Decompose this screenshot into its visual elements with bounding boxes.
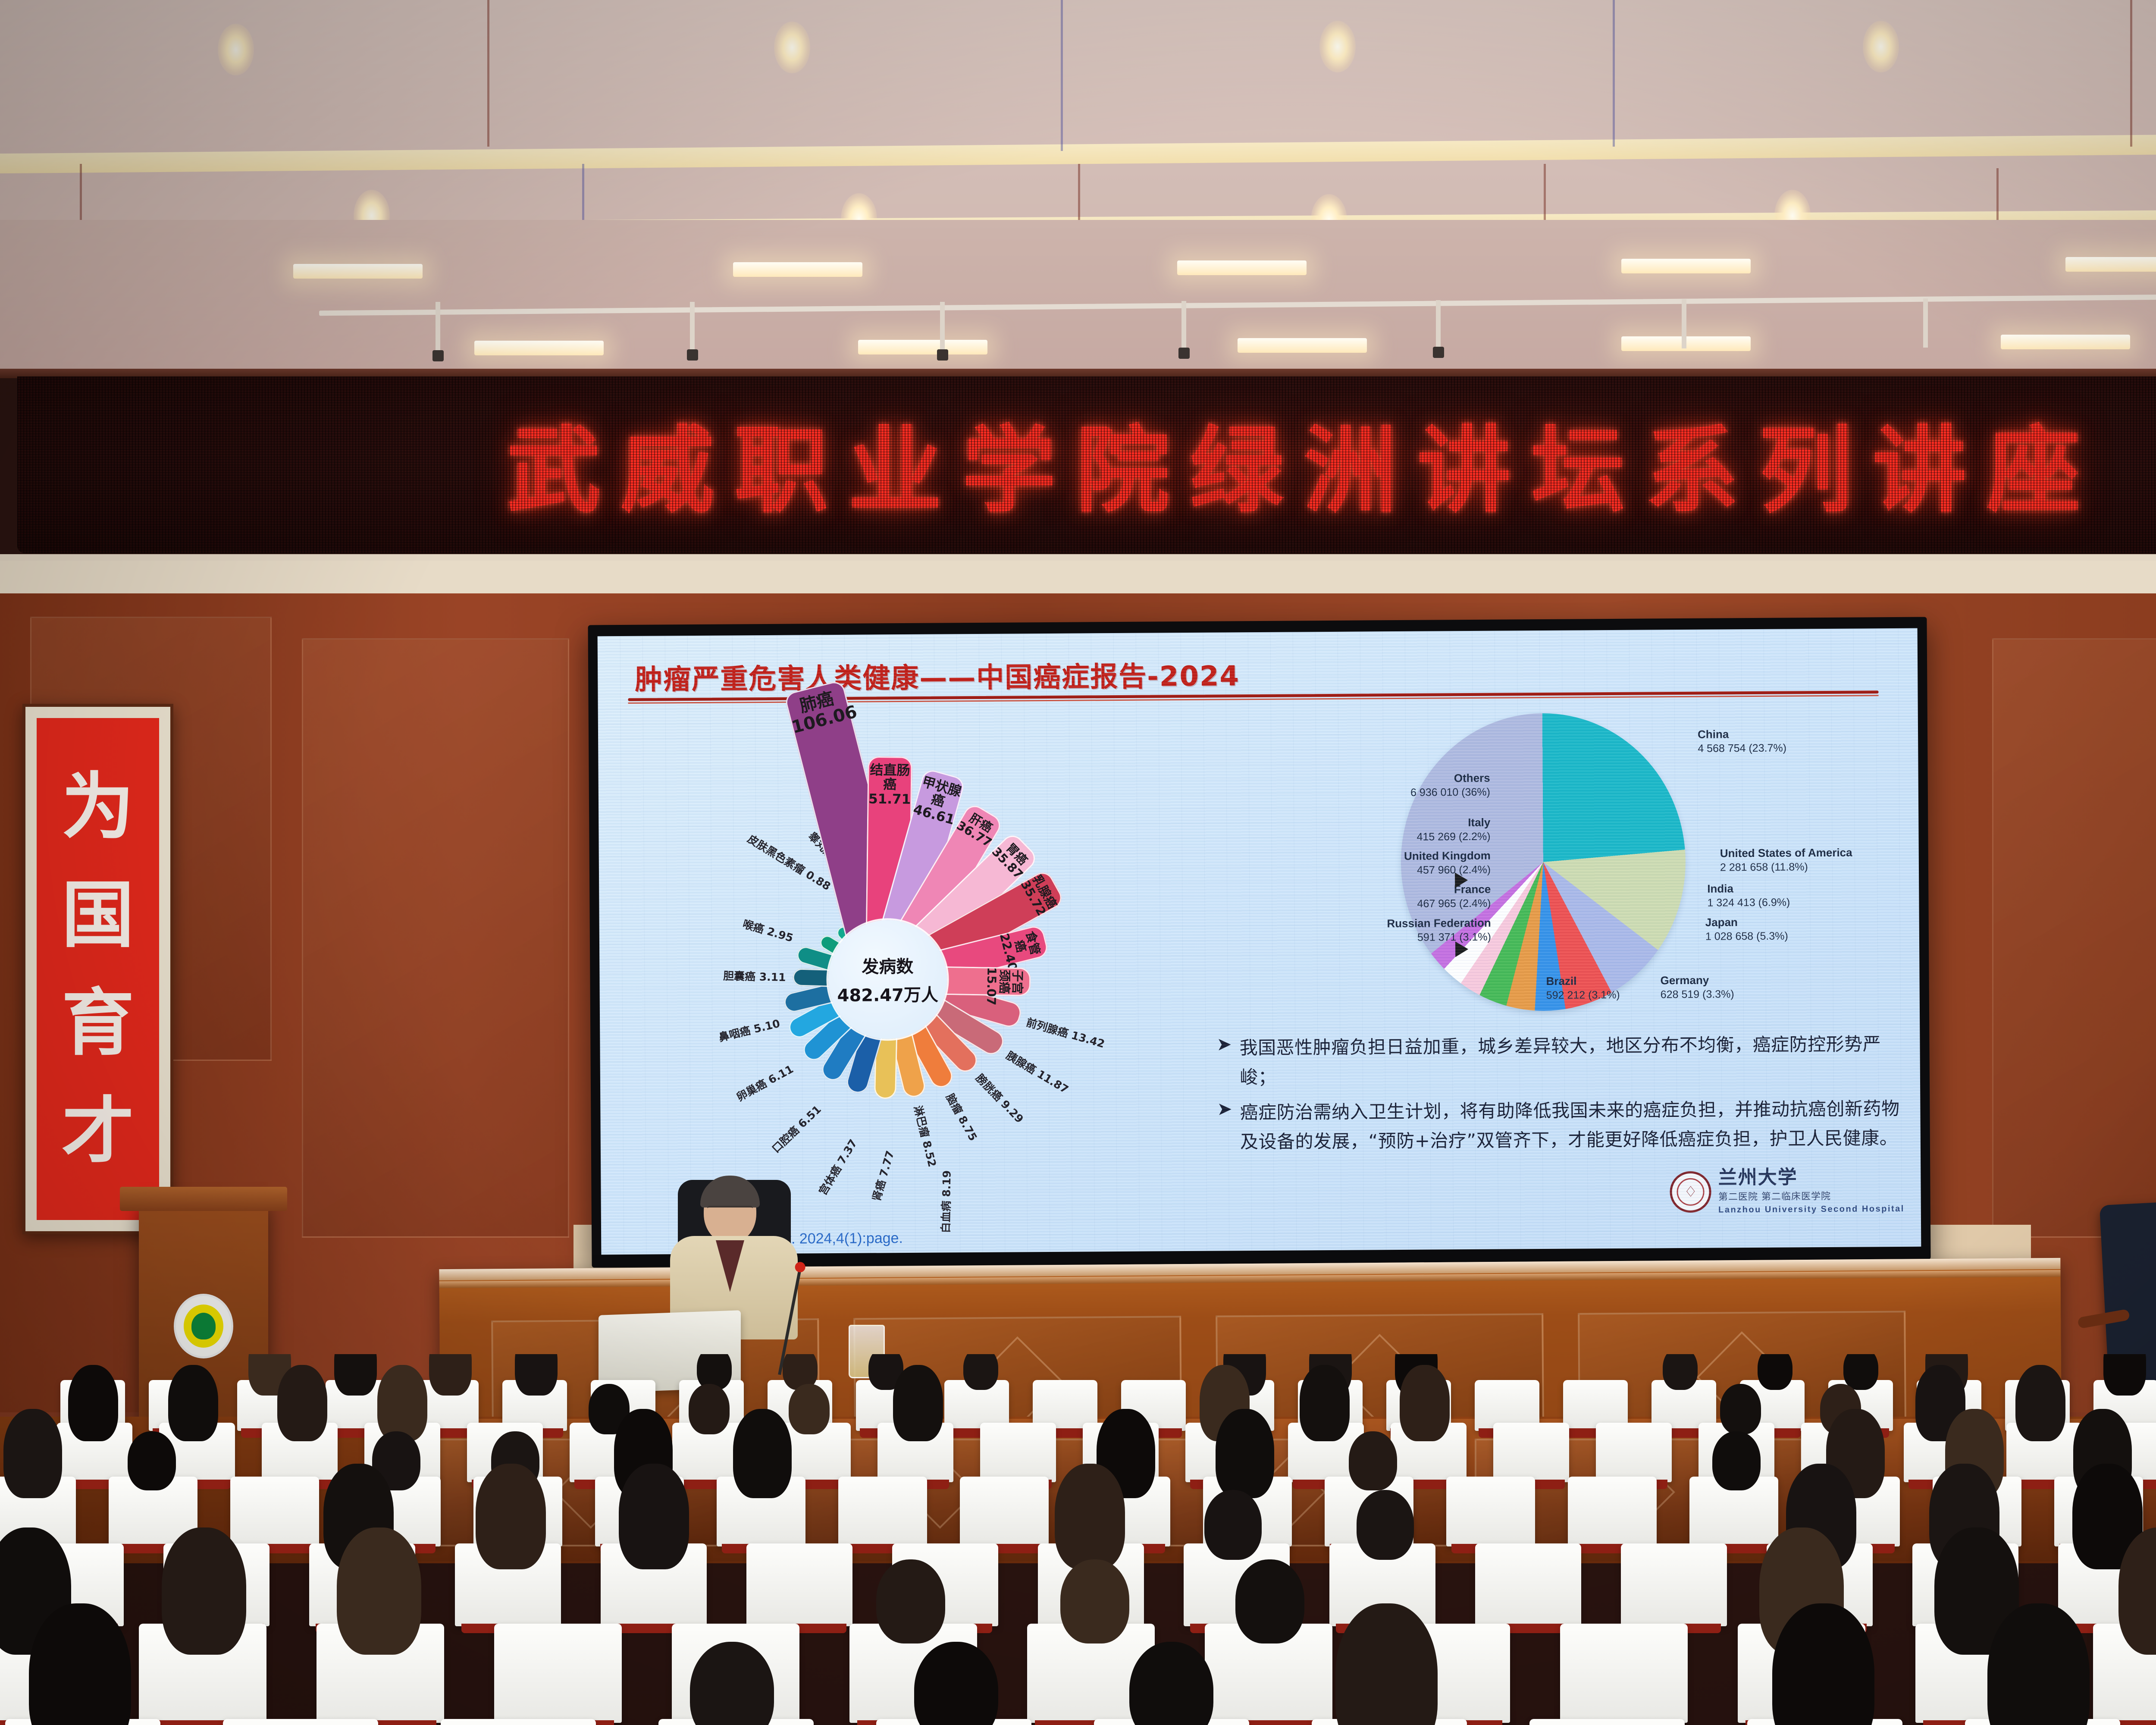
mouse-cursor-icon <box>1455 872 1468 888</box>
stage-spotlight <box>687 349 698 361</box>
rose-center-label: 发病数 482.47万人 <box>828 919 948 1039</box>
ceiling-rib <box>2130 0 2132 147</box>
hospital-logo: ♢ 兰州大学 第二医院 第二临床医学院 Lanzhou University S… <box>1670 1167 1905 1215</box>
slide: 肿瘤严重危害人类健康——中国癌症报告-2024 发病数 482.47万人 肺癌1… <box>598 628 1921 1255</box>
cove-slot-light <box>474 341 604 355</box>
audience-person-head <box>1300 1365 1350 1441</box>
audience-person-head <box>429 1354 472 1396</box>
rose-petal-label: 肺癌106.06 <box>785 686 853 737</box>
audience-person-head <box>789 1384 830 1434</box>
mouse-cursor-icon-2 <box>1455 941 1468 957</box>
rose-outer-label: 口腔癌 6.51 <box>768 1101 824 1156</box>
audience-seat <box>1621 1543 1727 1626</box>
audience-person-head <box>1772 1603 1875 1725</box>
slide-bullet-list: ➤ 我国恶性肿瘤负担日益加重，城乡差异较大，地区分布不均衡，癌症防控形势严峻； … <box>1216 1029 1912 1163</box>
audience-person-head <box>733 1409 792 1499</box>
audience-person-head <box>1400 1365 1450 1441</box>
rose-outer-label: 肾癌 7.77 <box>868 1149 897 1203</box>
pie-slice-name: Russian Federation <box>1229 916 1491 931</box>
hospital-name-cn: 兰州大学 <box>1718 1167 1905 1188</box>
pie-slice-value: 591 371 (3.1%) <box>1229 931 1491 945</box>
rose-outer-label: 卵巢癌 6.11 <box>733 1061 796 1104</box>
audience-person-head <box>1060 1559 1129 1643</box>
rose-center-title: 发病数 <box>862 953 913 978</box>
audience-person-head <box>168 1365 218 1441</box>
ceiling-downlight <box>1319 21 1356 72</box>
rose-outer-label: 前列腺癌 13.42 <box>1025 1014 1106 1051</box>
audience-seat <box>230 1477 319 1546</box>
left-banner-char-2: 国 <box>62 879 134 951</box>
audience-seat <box>838 1477 927 1546</box>
rose-outer-label: 淋巴瘤 8.52 <box>911 1104 941 1168</box>
ceiling-downlight <box>218 24 254 75</box>
audience-person-head <box>1758 1354 1792 1390</box>
audience-seat <box>746 1543 852 1626</box>
rose-petal-label: 乳腺癌35.72 <box>1018 872 1059 918</box>
left-banner-char-1: 为 <box>62 771 134 843</box>
audience-person-head <box>963 1354 998 1390</box>
pie-slice-name: Japan <box>1705 916 1788 929</box>
audience-person-head <box>1712 1431 1760 1490</box>
audience-person-head <box>1357 1490 1414 1560</box>
audience-seat <box>441 1719 596 1725</box>
rose-outer-label: 胆囊癌 3.11 <box>723 968 786 985</box>
ceiling-rib <box>1061 0 1063 151</box>
bullet-arrow-icon: ➤ <box>1217 1100 1232 1158</box>
audience-person-head <box>876 1559 945 1643</box>
speaker-glasses-icon <box>707 1206 753 1215</box>
audience-person-head <box>1204 1490 1262 1560</box>
pie-slice-name: United States of America <box>1720 846 1852 860</box>
pie-slice-label: Germany628 519 (3.3%) <box>1660 973 1734 1001</box>
pie-slice-name: United Kingdom <box>1228 849 1491 864</box>
truss-drop <box>1436 300 1441 350</box>
audience-seat <box>960 1477 1049 1546</box>
left-banner-char-3: 育 <box>62 987 134 1059</box>
auditorium-photo: 武威职业学院绿洲讲坛系列讲座 为 国 育 才 为 党 育 人 肿瘤严重危害人类 <box>0 0 2156 1725</box>
pie-slice-name: Germany <box>1660 973 1734 987</box>
pie-slice-label: United States of America2 281 658 (11.8%… <box>1720 846 1852 874</box>
hospital-seal-icon: ♢ <box>1670 1171 1712 1213</box>
truss-drop <box>940 302 945 353</box>
stage-spotlight <box>1433 347 1444 358</box>
rose-center-value: 482.47万人 <box>837 981 938 1007</box>
pie-slice-name: China <box>1698 728 1786 741</box>
lectern-top <box>120 1187 287 1211</box>
wall-cream-band <box>0 561 2156 593</box>
ceiling-downlight <box>1863 21 1899 72</box>
audience-person-head <box>3 1409 62 1499</box>
audience-person-head <box>1720 1384 1761 1434</box>
audience-seat <box>1529 1719 1685 1725</box>
audience-person-head <box>2015 1365 2065 1441</box>
cove-slot-light <box>1238 338 1367 353</box>
rose-outer-label: 鼻咽癌 5.10 <box>717 1015 782 1044</box>
bullet-arrow-icon: ➤ <box>1216 1035 1232 1094</box>
audience-person-head <box>162 1527 246 1655</box>
cove-slot-light <box>2001 335 2130 349</box>
pie-slice-value: 4 568 754 (23.7%) <box>1698 742 1786 755</box>
cove-slot-light <box>733 262 862 277</box>
ceiling-rib <box>487 0 489 147</box>
audience-person-head <box>515 1354 558 1396</box>
slide-title: 肿瘤严重危害人类健康——中国癌症报告-2024 <box>635 654 1240 697</box>
hospital-sub-cn: 第二医院 第二临床医学院 <box>1718 1188 1905 1203</box>
cove-slot-light <box>1621 259 1751 273</box>
pie-slice-value: 6 936 010 (36%) <box>1228 786 1490 800</box>
rose-petal-label: 子宫颈癌15.07 <box>984 967 1024 996</box>
left-banner-inner: 为 国 育 才 <box>37 718 159 1220</box>
pie-slice-value: 1 324 413 (6.9%) <box>1707 896 1790 909</box>
audience-person-head <box>1349 1431 1397 1490</box>
audience-person-head <box>914 1642 998 1725</box>
pie-slice-value: 415 269 (2.2%) <box>1228 831 1490 845</box>
audience-person-head <box>1335 1603 1438 1725</box>
audience-person-head <box>334 1354 377 1396</box>
rose-petal-label: 甲状腺癌46.61 <box>912 775 965 828</box>
audience-person-head <box>277 1365 327 1441</box>
audience-person-head <box>1235 1559 1304 1643</box>
cove-slot-light <box>858 340 987 354</box>
bullet-item: ➤ 癌症防治需纳入卫生计划，将有助降低我国未来的癌症负担，并推动抗癌创新药物及设… <box>1217 1094 1912 1157</box>
audience-person-head <box>1663 1354 1698 1390</box>
left-banner-scroll: 为 国 育 才 <box>22 704 173 1234</box>
cove-slot-light <box>2065 257 2156 272</box>
pie-slice-label: Russian Federation591 371 (3.1%) <box>1229 916 1491 945</box>
ceiling-cove-wall <box>0 220 2156 371</box>
stage-spotlight <box>432 350 444 361</box>
pie-slice-label: Others6 936 010 (36%) <box>1228 772 1490 800</box>
audience-person-head <box>1216 1409 1274 1499</box>
audience-seat <box>1596 1423 1672 1482</box>
rose-outer-label: 白血病 8.19 <box>937 1170 954 1233</box>
audience-seat <box>980 1423 1056 1482</box>
audience-person-head <box>128 1431 175 1490</box>
left-banner-char-4: 才 <box>62 1095 134 1167</box>
emblem-leaf-icon <box>191 1313 216 1339</box>
rose-petal-label: 肝癌36.77 <box>954 808 1001 850</box>
truss-drop <box>1923 298 1928 348</box>
pie-slice-value: 2 281 658 (11.8%) <box>1720 861 1852 874</box>
audience-person-head <box>29 1603 132 1725</box>
led-banner: 武威职业学院绿洲讲坛系列讲座 <box>0 369 2156 558</box>
bullet-text: 癌症防治需纳入卫生计划，将有助降低我国未来的癌症负担，并推动抗癌创新药物及设备的… <box>1240 1094 1912 1157</box>
global-cancer-pie-chart: China4 568 754 (23.7%)United States of A… <box>1228 709 1902 1015</box>
truss-drop <box>1682 299 1686 348</box>
pie-slice-value: 457 960 (2.4%) <box>1228 864 1491 878</box>
pie-slice-value: 1 028 658 (5.3%) <box>1705 930 1788 943</box>
stage-spotlight <box>937 349 948 361</box>
rose-outer-label: 膀胱癌 9.29 <box>973 1070 1028 1126</box>
audience-seat <box>1475 1543 1581 1626</box>
pie-slice-label: France467 965 (2.4%) <box>1228 883 1491 912</box>
pie-slice-label: Brazil592 212 (3.1%) <box>1546 974 1620 1002</box>
pie-slice-label: Japan1 028 658 (5.3%) <box>1705 916 1788 943</box>
audience-seat <box>1493 1423 1569 1482</box>
pie-slice-label: India1 324 413 (6.9%) <box>1707 881 1790 909</box>
truss-drop <box>436 302 440 354</box>
pie-slice-value: 467 965 (2.4%) <box>1228 897 1491 912</box>
pie-slice-value: 628 519 (3.3%) <box>1661 988 1734 1001</box>
audience-seat <box>494 1624 622 1723</box>
pie-slice-value: 592 212 (3.1%) <box>1546 989 1620 1002</box>
wuwei-vocational-college-emblem-icon <box>174 1294 233 1358</box>
pie-slice-label: China4 568 754 (23.7%) <box>1698 728 1786 755</box>
audience-seat <box>1446 1477 1535 1546</box>
bullet-text: 我国恶性肿瘤负担日益加重，城乡差异较大，地区分布不均衡，癌症防控形势严峻； <box>1239 1029 1911 1092</box>
rose-petal-label: 结直肠癌51.71 <box>868 763 912 807</box>
pie-slice-name: India <box>1707 881 1790 895</box>
pie-slice-name: Others <box>1228 772 1490 787</box>
led-banner-text: 武威职业学院绿洲讲坛系列讲座 <box>487 394 2100 530</box>
pie-slice-name: Brazil <box>1546 974 1620 988</box>
rose-outer-label: 脑瘤 8.75 <box>943 1091 982 1144</box>
wall-panel <box>302 638 569 1238</box>
audience-seat <box>1560 1624 1688 1723</box>
audience-person-head <box>377 1365 427 1441</box>
stage-spotlight <box>1178 348 1190 359</box>
cove-slot-light <box>293 264 423 279</box>
audience-person-head <box>619 1464 689 1569</box>
pie-slice-label: Italy415 269 (2.2%) <box>1228 816 1490 845</box>
audience-person-head <box>1055 1464 1125 1569</box>
rose-outer-label: 胰腺癌 11.87 <box>1003 1047 1072 1097</box>
audience-seat <box>1568 1477 1657 1546</box>
emblem-inner <box>184 1305 223 1348</box>
truss-drop <box>1181 301 1186 351</box>
audience-person-head <box>893 1365 943 1441</box>
ceiling-downlight <box>774 22 810 73</box>
audience-person-head <box>689 1384 730 1434</box>
ceiling-rib <box>1613 0 1615 147</box>
pie-slice-name: France <box>1228 883 1491 898</box>
audience-seat <box>223 1719 378 1725</box>
audience-person-head <box>68 1365 118 1441</box>
audience-person-head <box>2103 1354 2146 1396</box>
hospital-name-en: Lanzhou University Second Hospital <box>1718 1204 1905 1215</box>
ceiling <box>0 0 2156 371</box>
cove-slot-light <box>1177 260 1307 275</box>
hospital-logo-text: 兰州大学 第二医院 第二临床医学院 Lanzhou University Sec… <box>1718 1167 1905 1215</box>
audience-seating <box>0 1354 2156 1725</box>
audience-person-head <box>1843 1354 1878 1390</box>
audience-person-head <box>1987 1603 2090 1725</box>
audience-person-head <box>1129 1642 1213 1725</box>
pie-slice-label: United Kingdom457 960 (2.4%) <box>1228 849 1491 878</box>
bullet-item: ➤ 我国恶性肿瘤负担日益加重，城乡差异较大，地区分布不均衡，癌症防控形势严峻； <box>1216 1029 1911 1092</box>
rose-outer-label: 宫体癌 7.37 <box>815 1136 860 1198</box>
wall-panel <box>1992 638 2156 1238</box>
truss-drop <box>690 302 695 353</box>
led-banner-screen: 武威职业学院绿洲讲坛系列讲座 <box>17 376 2156 553</box>
rose-outer-label: 喉癌 2.95 <box>741 916 796 945</box>
audience-person-head <box>337 1527 421 1655</box>
pie-slice-name: Italy <box>1228 816 1490 831</box>
rose-petal-label: 胃癌35.87 <box>989 836 1035 881</box>
audience-person-head <box>476 1464 545 1569</box>
